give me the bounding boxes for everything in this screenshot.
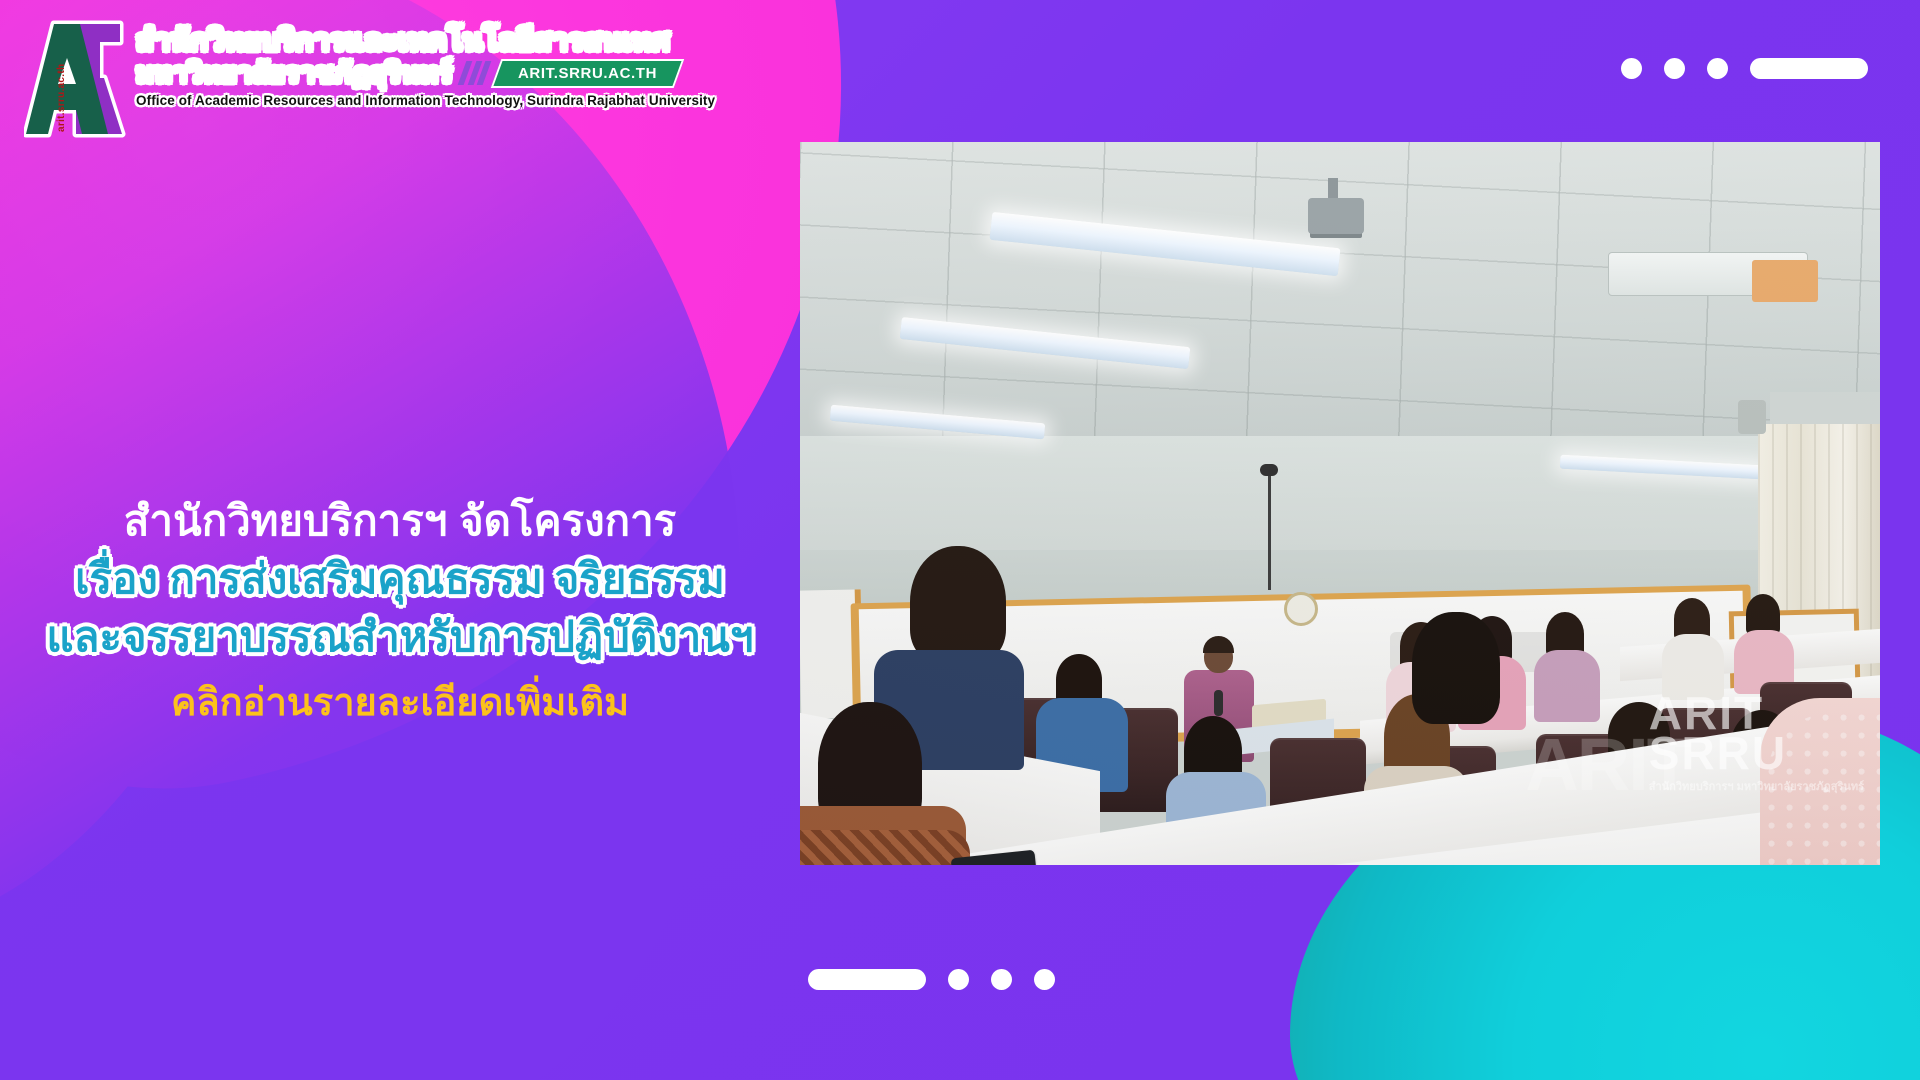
pagination-dot-1[interactable] [1621, 58, 1642, 79]
read-more-link[interactable]: คลิกอ่านรายละเอียดเพิ่มเติม [0, 684, 800, 722]
svg-text:arit.srru.ac.th: arit.srru.ac.th [56, 64, 67, 132]
headline-line-3: และจรรยาบรรณสำหรับการปฏิบัติงานฯ [0, 616, 800, 658]
website-url-text: ARIT.SRRU.AC.TH [518, 65, 657, 82]
arit-logo-mark: arit.srru.ac.th [24, 20, 132, 138]
photo-tint-overlay [800, 142, 1880, 865]
headline-block: สำนักวิทยบริการฯ จัดโครงการ เรื่อง การส่… [0, 500, 800, 722]
pagination-dot-3[interactable] [1707, 58, 1728, 79]
pagination-top[interactable] [1621, 58, 1868, 79]
pagination-active-4[interactable] [1750, 58, 1868, 79]
slash-decoration-icon [457, 61, 491, 85]
pagination-dot-3[interactable] [991, 969, 1012, 990]
event-photo[interactable]: ARIT ARIT SRRU สำนักวิทยบริการฯ มหาวิทยา… [800, 142, 1880, 865]
pagination-dot-2[interactable] [948, 969, 969, 990]
pagination-dot-4[interactable] [1034, 969, 1055, 990]
arit-logo-text: สำนักวิทยบริการและเทคโนโลยีสารสนเทศ มหาว… [136, 20, 715, 108]
org-name-en: Office of Academic Resources and Informa… [136, 93, 715, 108]
headline-line-1: สำนักวิทยบริการฯ จัดโครงการ [0, 500, 800, 542]
university-name-th: มหาวิทยาลัยราชภัฏสุรินทร์ [136, 59, 453, 88]
watermark-ghost: ARIT [1525, 722, 1690, 807]
arit-logo[interactable]: arit.srru.ac.th สำนักวิทยบริการและเทคโนโ… [24, 20, 715, 138]
pagination-bottom[interactable] [808, 969, 1055, 990]
pagination-dot-2[interactable] [1664, 58, 1685, 79]
org-name-th: สำนักวิทยบริการและเทคโนโลยีสารสนเทศ [136, 26, 715, 57]
headline-line-2: เรื่อง การส่งเสริมคุณธรรม จริยธรรม [0, 558, 800, 600]
pagination-active-1[interactable] [808, 969, 926, 990]
banner-slide: arit.srru.ac.th สำนักวิทยบริการและเทคโนโ… [0, 0, 1920, 1080]
website-url-badge[interactable]: ARIT.SRRU.AC.TH [490, 59, 684, 88]
